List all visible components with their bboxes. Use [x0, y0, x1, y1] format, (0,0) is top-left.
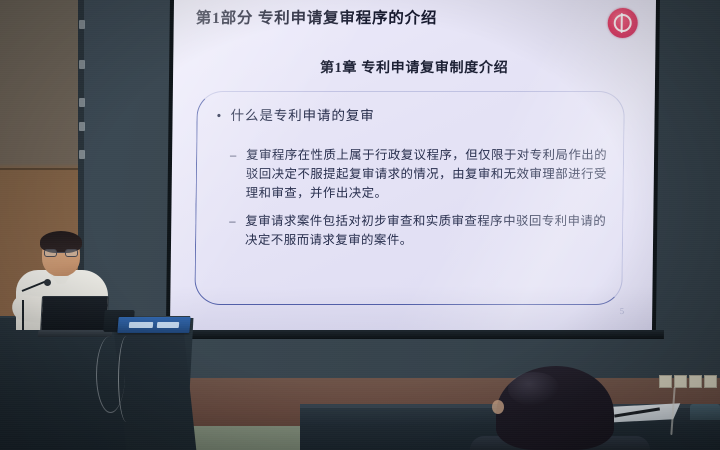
nameplate-text-block — [157, 322, 180, 328]
nameplate-text-block — [129, 322, 154, 328]
door-hinge — [79, 98, 85, 107]
subpoint-1-text: 复审程序在性质上属于行政复议程序，但仅限于对专利局作出的驳回决定不服提起复审请求… — [246, 148, 608, 200]
slide-bullet-primary: •什么是专利申请的复审 — [216, 104, 616, 124]
lecture-hall-photo: 第1部分 专利申请复审程序的介绍 第1章 专利申请复审制度介绍 •什么是专利申请… — [0, 0, 720, 450]
bullet-primary-text: 什么是专利申请的复审 — [230, 108, 374, 123]
audience-hair-highlight — [508, 372, 560, 406]
dash-marker-icon: – — [230, 146, 237, 165]
glasses-icon — [44, 249, 78, 257]
wall-socket-panel — [659, 375, 717, 388]
slide-page-number: 5 — [620, 306, 625, 316]
door-hinge — [79, 60, 85, 69]
microphone-head — [44, 279, 51, 286]
microphone-stand — [22, 300, 24, 330]
subpoint-2-text: 复审请求案件包括对初步审查和实质审查程序中驳回专利申请的决定不服而请求复审的案件… — [245, 214, 606, 247]
dash-marker-icon: – — [229, 212, 236, 231]
laptop-base — [37, 330, 112, 337]
door-hinge — [79, 20, 85, 29]
slide-subpoint-1: – 复审程序在性质上属于行政复议程序，但仅限于对专利局作出的驳回决定不服提起复审… — [246, 146, 609, 203]
presenter-nameplate — [117, 317, 190, 333]
door-hinge — [79, 122, 85, 131]
slide-part-title: 第1部分 专利申请复审程序的介绍 — [196, 6, 526, 28]
bullet-marker-icon: • — [216, 108, 230, 124]
door-hinge — [79, 150, 85, 159]
screen-bottom-rail — [168, 330, 664, 339]
slide-chapter-heading: 第1章 专利申请复审制度介绍 — [173, 57, 655, 77]
bench-edge — [690, 404, 720, 420]
cnipa-emblem-icon — [608, 8, 638, 38]
slide-subpoint-2: – 复审请求案件包括对初步审查和实质审查程序中驳回专利申请的决定不服而请求复审的… — [245, 212, 607, 250]
projected-slide: 第1部分 专利申请复审程序的介绍 第1章 专利申请复审制度介绍 •什么是专利申请… — [170, 0, 656, 332]
door-seam — [0, 168, 78, 170]
laptop-screen — [40, 296, 109, 334]
cable — [118, 336, 135, 422]
audience-ear — [492, 400, 504, 414]
